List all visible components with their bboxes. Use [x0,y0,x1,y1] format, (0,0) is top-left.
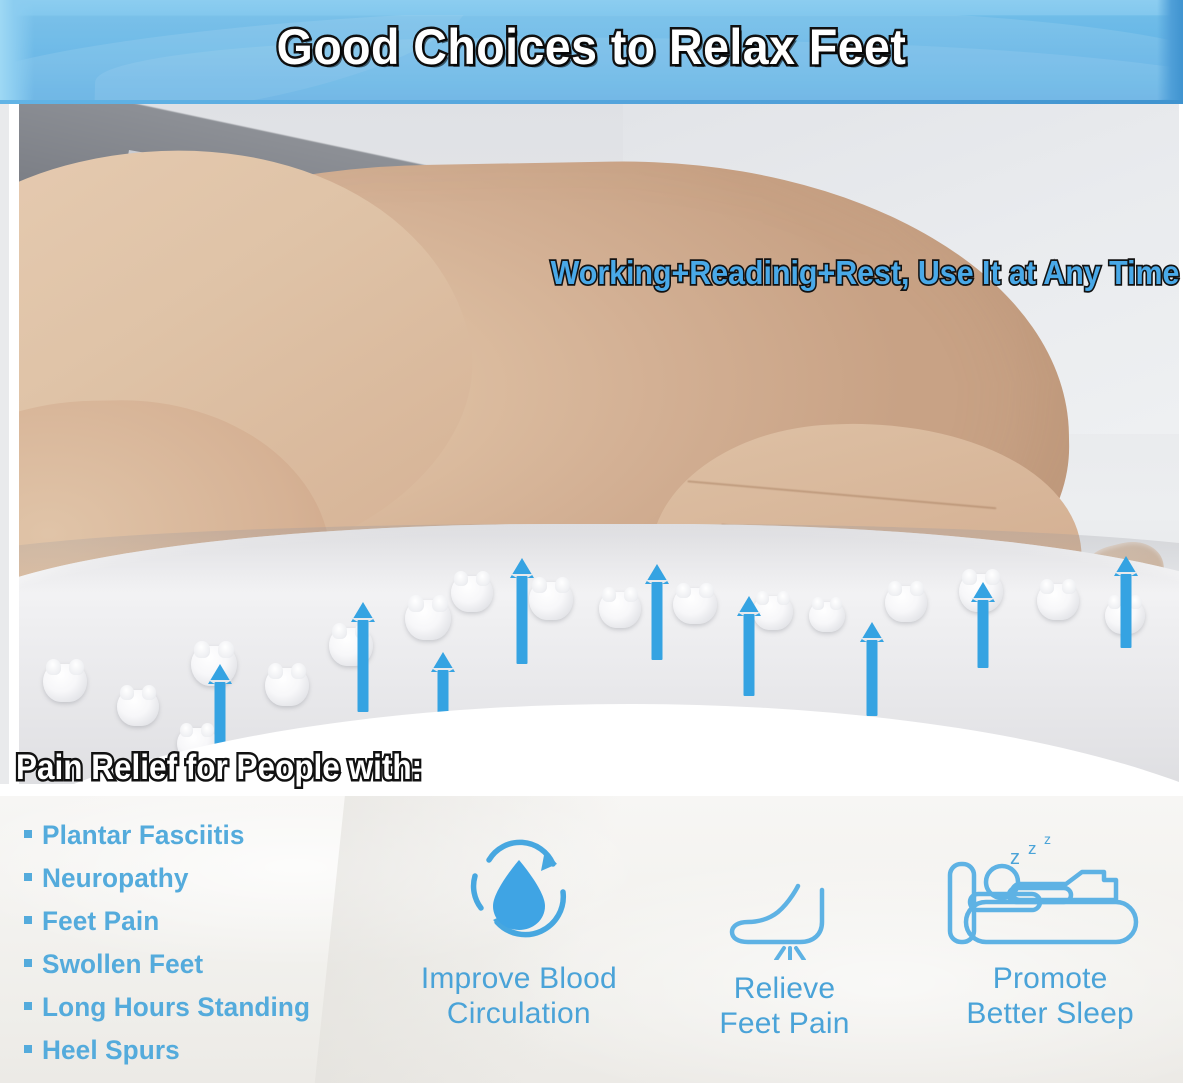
arrow-shaft [744,614,755,696]
list-item-label: Swollen Feet [42,943,203,986]
massage-nub [117,690,159,726]
benefit-label: Relieve Feet Pain [719,971,849,1042]
pressure-arrow [511,558,533,664]
toe-crease [687,480,996,509]
benefit-label-line1: Improve Blood [421,961,617,996]
massage-nub [1037,584,1079,620]
massage-nub [451,576,493,612]
massage-nub [405,600,451,640]
benefit-label-line2: Better Sleep [966,996,1134,1031]
photo-left-margin [9,104,19,784]
photo-subtitle: Working+Readinig+Rest, Use It at Any Tim… [550,254,1179,292]
condition-list: Plantar Fasciitis Neuropathy Feet Pain S… [24,814,384,1072]
arrow-shaft [358,620,369,712]
massage-nub [43,664,87,702]
header-banner: Good Choices to Relax Feet [0,0,1183,104]
list-item-label: Heel Spurs [42,1029,180,1072]
benefit-label: Improve Blood Circulation [421,961,617,1032]
benefit-label-line2: Circulation [421,996,617,1031]
zzz-mid: z [1028,839,1037,858]
benefit-label-line1: Promote [966,961,1134,996]
massage-nub [265,668,309,706]
arrow-shaft [1121,574,1132,648]
pressure-arrow [861,622,883,716]
benefit-relieve-feet-pain: Relieve Feet Pain [652,802,918,1042]
pressure-arrow [738,596,760,696]
bullet-marker-icon [24,916,32,924]
list-item: Neuropathy [24,857,384,900]
benefit-promote-better-sleep: z z z Promote Better Sleep [917,802,1183,1032]
page-title: Good Choices to Relax Feet [41,18,1141,76]
photo-right-margin [1179,104,1183,784]
zzz-large: z [1044,831,1051,847]
arrow-shaft [517,576,528,664]
massage-nub [809,602,845,632]
banner-left-edge [0,0,34,104]
massage-nub [885,586,927,622]
sleeping-person-bed-icon: z z z [944,830,1156,955]
arrow-shaft [652,582,663,660]
pressure-arrow [646,564,668,660]
list-item: Plantar Fasciitis [24,814,384,857]
arrow-shaft [978,600,989,668]
pressure-arrow [352,602,374,712]
zzz-small: z [1010,847,1020,869]
benefits-panel: Plantar Fasciitis Neuropathy Feet Pain S… [0,796,1183,1083]
bullet-marker-icon [24,1002,32,1010]
list-item-label: Plantar Fasciitis [42,814,245,857]
list-item-label: Neuropathy [42,857,189,900]
product-infographic: Good Choices to Relax Feet [0,0,1183,1083]
pressure-arrow [972,582,994,668]
benefit-label-line1: Relieve [719,971,849,1006]
product-photo: Working+Readinig+Rest, Use It at Any Tim… [0,104,1183,784]
benefit-improve-circulation: Improve Blood Circulation [386,802,652,1032]
massage-nub [599,592,641,628]
mat-shadow [9,524,1183,594]
list-item: Feet Pain [24,900,384,943]
massage-nub [673,588,717,624]
foot-relief-icon [724,880,846,965]
banner-top-strip [0,0,1183,15]
benefit-icon-row: Improve Blood Circulation Relieve Feet [386,802,1183,1083]
list-item-label: Feet Pain [42,900,159,943]
bullet-marker-icon [24,830,32,838]
list-item: Swollen Feet [24,943,384,986]
bullet-marker-icon [24,1045,32,1053]
list-item-label: Long Hours Standing [42,986,310,1029]
pressure-arrow [1115,556,1137,648]
list-item: Long Hours Standing [24,986,384,1029]
photo-scene [9,104,1183,784]
list-item: Heel Spurs [24,1029,384,1072]
benefit-label-line2: Feet Pain [719,1006,849,1041]
bullet-marker-icon [24,959,32,967]
arrow-shaft [867,640,878,716]
massage-nub [529,582,573,620]
water-drop-circulation-icon [453,838,585,955]
pain-relief-heading: Pain Relief for People with: [16,748,422,788]
benefit-label: Promote Better Sleep [966,961,1134,1032]
bullet-marker-icon [24,873,32,881]
banner-right-edge [1157,0,1183,104]
